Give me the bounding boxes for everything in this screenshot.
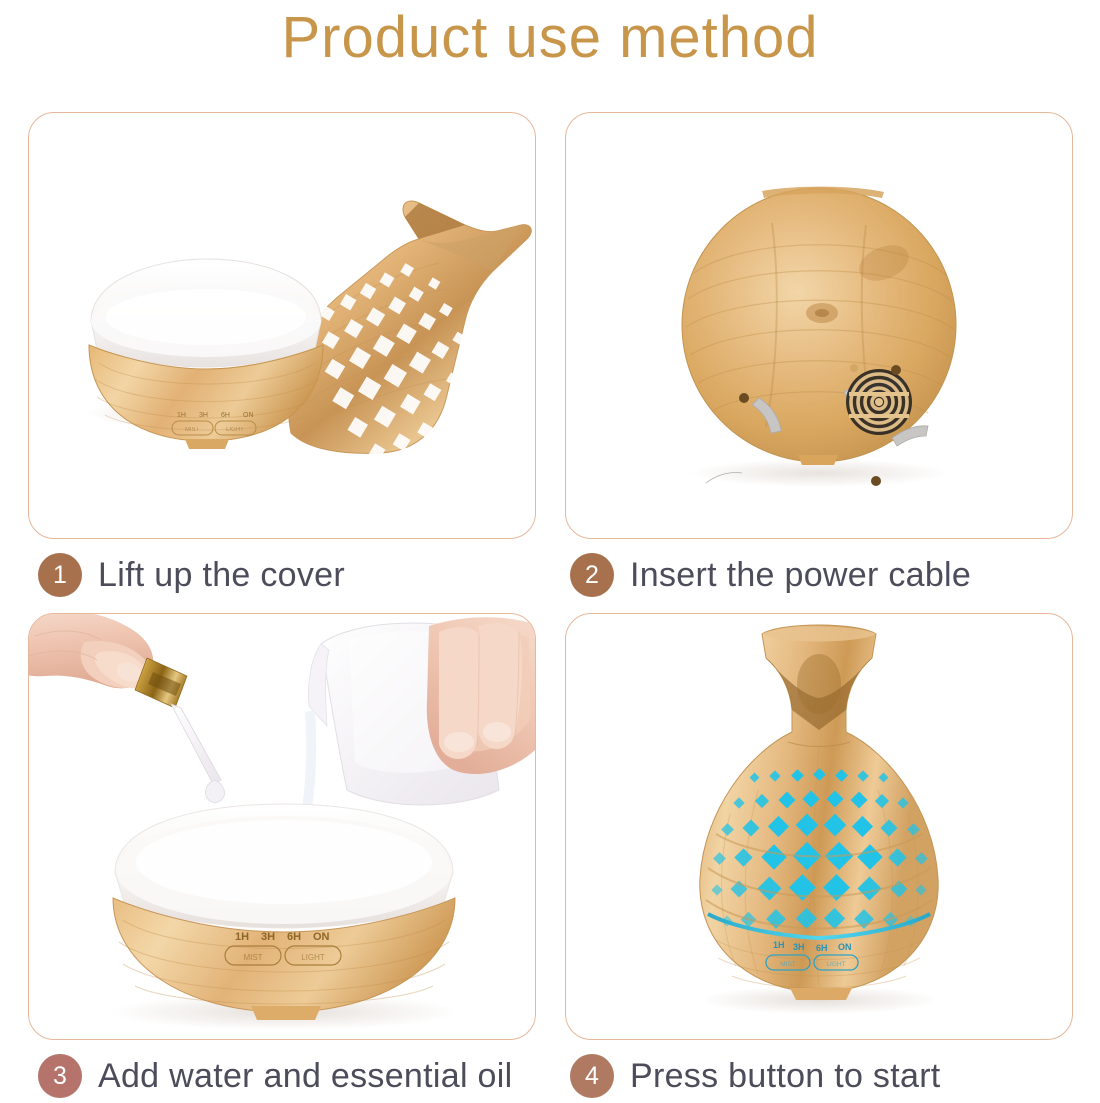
- step-2-label: Insert the power cable: [630, 556, 971, 595]
- step-4-badge: 4: [570, 1054, 614, 1098]
- svg-text:6H: 6H: [287, 931, 301, 943]
- illustration-add-water-and-essential-oil: 1H 3H 6H ON MIST LIGHT: [29, 614, 535, 1039]
- essential-oil-dropper: [135, 658, 225, 827]
- water-stream: [301, 710, 316, 814]
- illustration-insert-the-power-cable: [566, 113, 1072, 538]
- svg-text:MIST: MIST: [243, 953, 262, 962]
- step-4-caption: 4 Press button to start: [570, 1049, 1070, 1103]
- svg-text:ON: ON: [313, 931, 330, 943]
- step-4-image-panel: 1H 3H 6H ON MIST LIGHT: [565, 613, 1073, 1040]
- diffuser-base-open: 1H 3H 6H ON MIST LIGHT: [113, 804, 455, 1020]
- svg-text:1H: 1H: [177, 412, 186, 419]
- illustration-lift-up-the-cover: 1H 3H 6H ON MIST LIGHT: [29, 113, 535, 538]
- step-1-image-panel: 1H 3H 6H ON MIST LIGHT: [28, 112, 536, 539]
- svg-text:LIGHT: LIGHT: [826, 961, 845, 968]
- step-2-badge: 2: [570, 553, 614, 597]
- step-1-caption: 1 Lift up the cover: [38, 548, 538, 602]
- step-3-label: Add water and essential oil: [98, 1057, 512, 1096]
- step-3-caption: 3 Add water and essential oil: [38, 1049, 548, 1103]
- hand-with-water-pitcher: [301, 617, 535, 814]
- step-3-image-panel: 1H 3H 6H ON MIST LIGHT: [28, 613, 536, 1040]
- svg-text:ON: ON: [838, 942, 852, 952]
- svg-text:MIST: MIST: [185, 427, 200, 433]
- svg-text:LIGHT: LIGHT: [301, 953, 325, 962]
- svg-text:1H: 1H: [773, 940, 785, 950]
- step-4-label: Press button to start: [630, 1057, 941, 1096]
- fan-vent-grille: [846, 369, 912, 435]
- product-instruction-infographic: Product use method: [0, 0, 1100, 1100]
- illustration-press-button-to-start: 1H 3H 6H ON MIST LIGHT: [566, 614, 1072, 1039]
- step-2-image-panel: [565, 112, 1073, 539]
- diffuser-cover-lifted: [288, 201, 531, 468]
- svg-text:6H: 6H: [221, 412, 230, 419]
- svg-text:6H: 6H: [816, 943, 828, 953]
- step-3-badge: 3: [38, 1054, 82, 1098]
- hand-with-dropper: [29, 614, 153, 688]
- step-1-badge: 1: [38, 553, 82, 597]
- svg-text:3H: 3H: [199, 412, 208, 419]
- step-1-label: Lift up the cover: [98, 556, 345, 595]
- svg-text:3H: 3H: [793, 942, 805, 952]
- assembled-diffuser: 1H 3H 6H ON MIST LIGHT: [700, 625, 938, 1000]
- svg-text:ON: ON: [243, 412, 254, 419]
- svg-text:1H: 1H: [235, 931, 249, 943]
- step-2-caption: 2 Insert the power cable: [570, 548, 1070, 602]
- svg-text:LIGHT: LIGHT: [226, 427, 244, 433]
- page-title: Product use method: [0, 6, 1100, 70]
- svg-text:3H: 3H: [261, 931, 275, 943]
- svg-text:MIST: MIST: [780, 961, 796, 968]
